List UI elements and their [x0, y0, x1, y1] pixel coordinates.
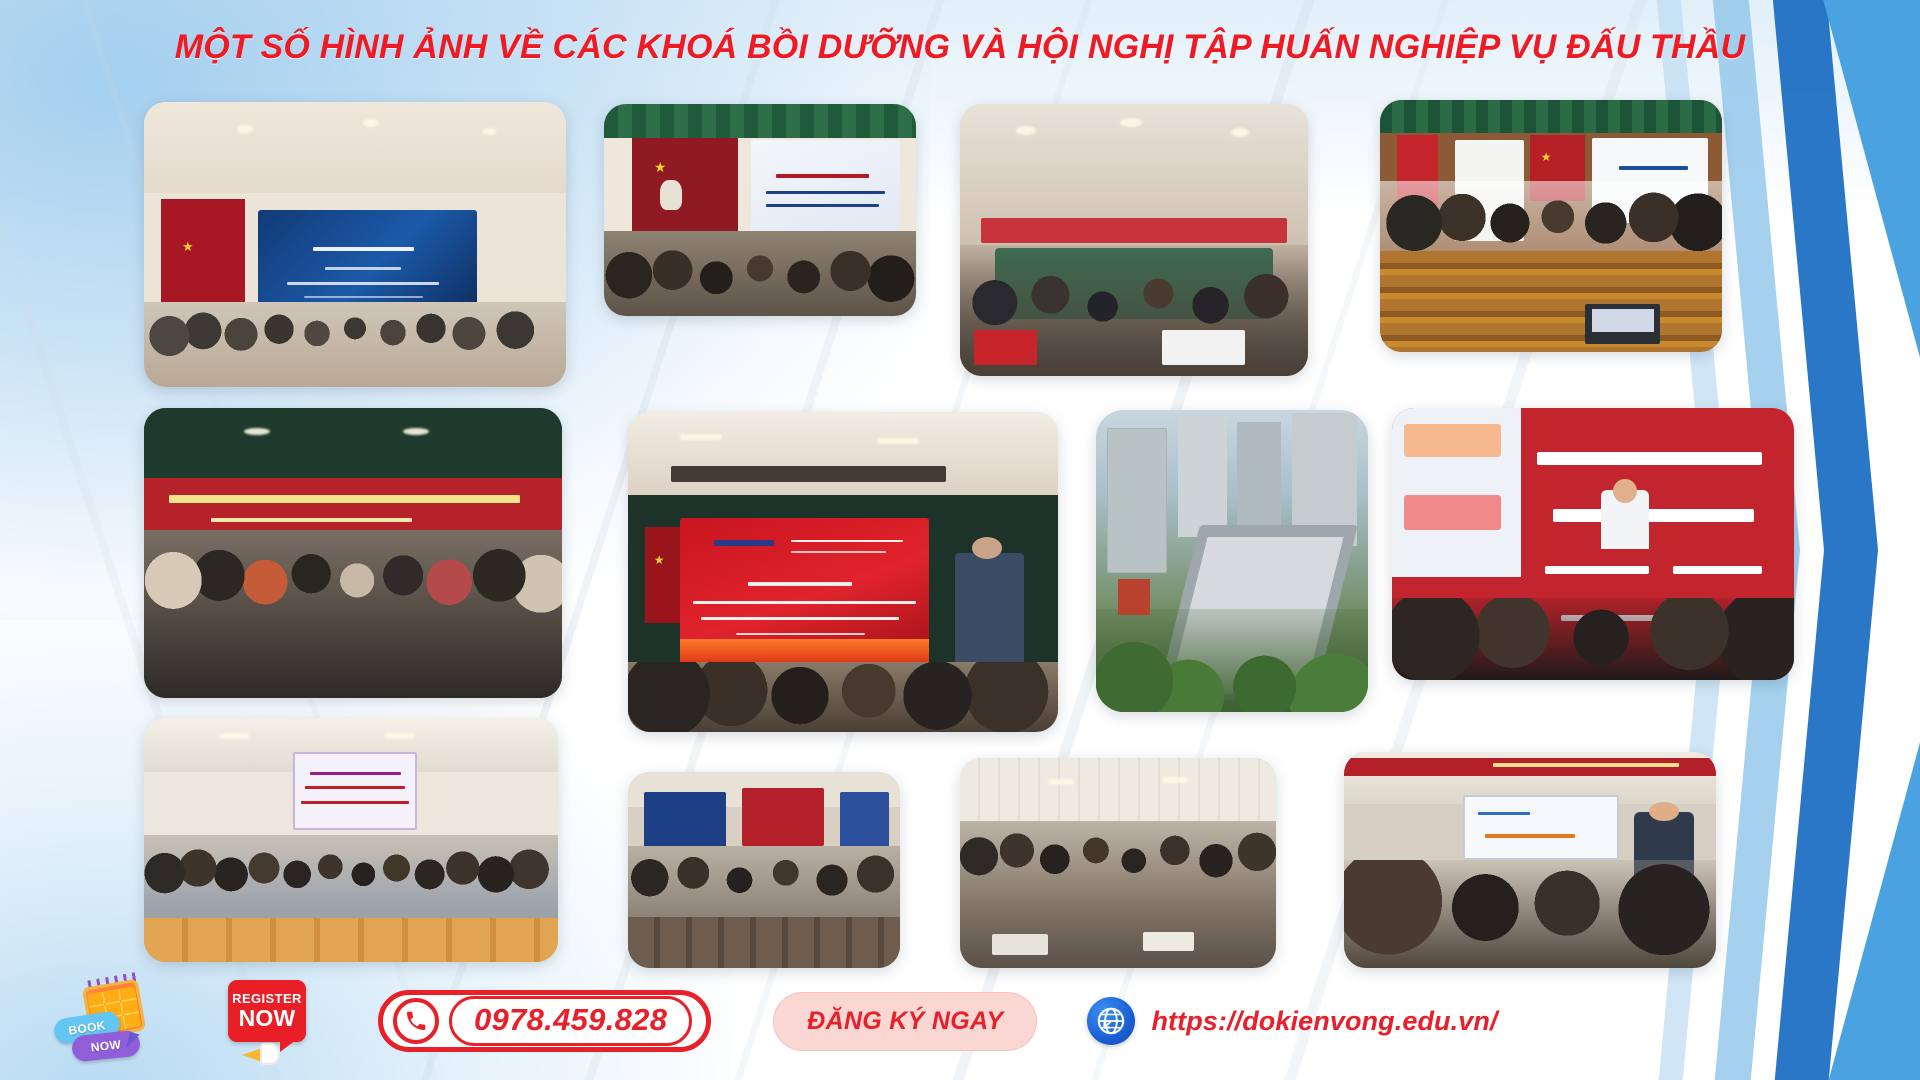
photo-6-scene: ★	[628, 412, 1058, 732]
website-link[interactable]: https://dokienvong.edu.vn/	[1087, 997, 1497, 1045]
photo-8-scene	[1392, 408, 1794, 680]
photo-card-9[interactable]	[144, 718, 558, 962]
poster-canvas: MỘT SỐ HÌNH ẢNH VỀ CÁC KHOÁ BỒI DƯỠNG VÀ…	[0, 0, 1920, 1080]
phone-number: 0978.459.828	[449, 996, 692, 1046]
photo-card-12[interactable]	[1344, 752, 1716, 968]
photo-card-4[interactable]: ★	[1380, 100, 1722, 352]
photo-11-scene	[960, 758, 1276, 968]
phone-icon	[393, 998, 439, 1044]
photo-card-11[interactable]	[960, 758, 1276, 968]
photo-10-scene	[628, 772, 900, 968]
photo-1-scene: ★	[144, 102, 566, 387]
register-cta-button[interactable]: ĐĂNG KÝ NGAY	[773, 992, 1037, 1051]
book-now-sticker[interactable]: BOOK NOW	[56, 981, 152, 1061]
photo-card-6[interactable]: ★	[628, 412, 1058, 732]
photo-card-10[interactable]	[628, 772, 900, 968]
photo-card-2[interactable]: ★	[604, 104, 916, 316]
page-title: MỘT SỐ HÌNH ẢNH VỀ CÁC KHOÁ BỒI DƯỠNG VÀ…	[0, 28, 1920, 67]
register-now-label-line1: REGISTER	[232, 992, 302, 1005]
photo-card-7[interactable]	[1096, 410, 1368, 712]
photo-card-8[interactable]	[1392, 408, 1794, 680]
register-now-box: REGISTER NOW	[228, 980, 306, 1042]
register-now-badge[interactable]: REGISTER NOW	[224, 978, 316, 1064]
megaphone-icon	[242, 1042, 286, 1066]
footer-contact-bar: BOOK NOW REGISTER NOW 0978.459.828 ĐĂN	[0, 962, 1920, 1080]
photo-card-3[interactable]	[960, 104, 1308, 376]
photo-2-scene: ★	[604, 104, 916, 316]
phone-contact[interactable]: 0978.459.828	[378, 990, 711, 1052]
register-now-label-line2: NOW	[239, 1007, 296, 1030]
photo-3-scene	[960, 104, 1308, 376]
globe-icon	[1087, 997, 1135, 1045]
photo-5-scene	[144, 408, 562, 698]
photo-card-5[interactable]	[144, 408, 562, 698]
photo-12-scene	[1344, 752, 1716, 968]
photo-card-1[interactable]: ★	[144, 102, 566, 387]
photo-4-scene: ★	[1380, 100, 1722, 352]
photo-7-scene	[1096, 410, 1368, 712]
photo-9-scene	[144, 718, 558, 962]
website-url: https://dokienvong.edu.vn/	[1151, 1006, 1497, 1037]
